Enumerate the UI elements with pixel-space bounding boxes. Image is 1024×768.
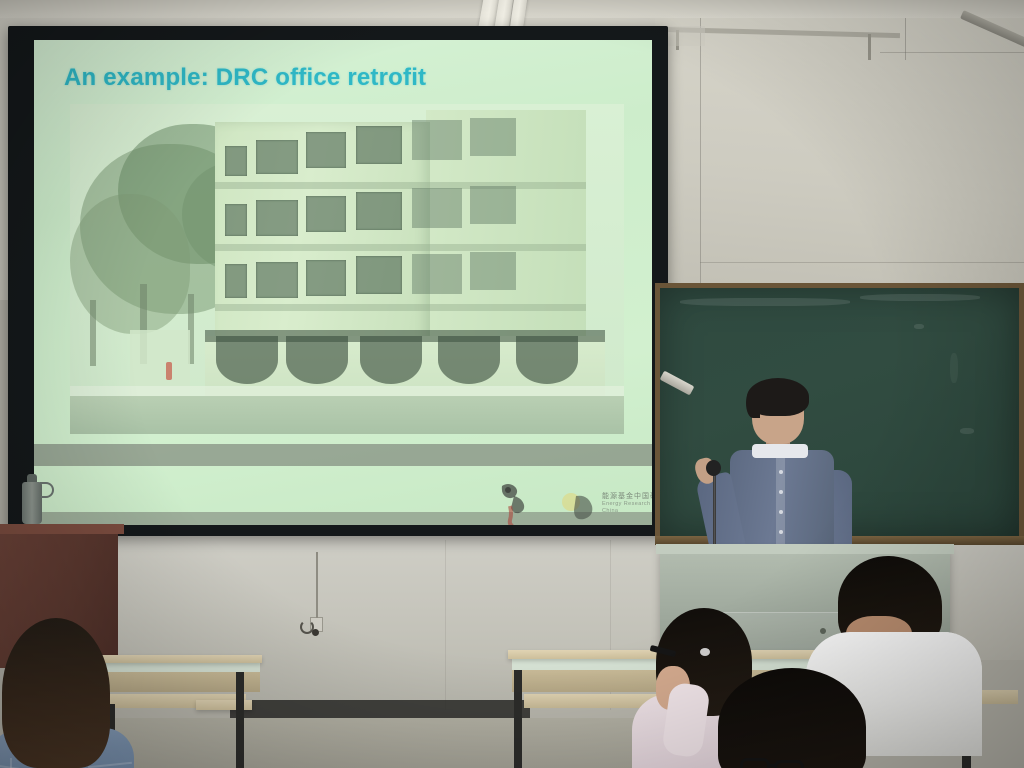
arcade-arch [216,336,278,384]
logo-label-cn: 能源基金中国研究 [602,492,652,501]
wall-seam [700,262,1024,263]
arcade-arch [286,336,348,384]
window [356,126,402,164]
logo-label-en-1: Energy Research [602,501,652,508]
window [356,192,402,230]
window [306,260,346,296]
tree-icon [70,194,190,334]
arcade-arch [516,336,578,384]
floor-line [215,244,586,251]
window [306,132,346,168]
cyclist-figure-logo [494,480,538,525]
slide-divider-band [34,444,652,466]
window [412,120,462,160]
window [470,252,516,290]
podium-top [0,524,124,534]
desk-leg [236,672,244,768]
awning-band [205,330,605,342]
road [70,396,624,434]
eyeglasses-bridge [768,764,776,767]
floor-line [215,304,586,311]
floor-line [215,182,586,189]
window [412,254,462,294]
slide-photo-building [70,104,624,434]
window [356,256,402,294]
shirt-button [779,490,783,494]
window [412,188,462,228]
student-hair [2,618,110,768]
window [256,262,298,298]
window [306,196,346,232]
student-front-glasses [718,668,868,768]
projection-screen-frame: An example: DRC office retrofit [8,26,668,536]
student-hair [718,668,866,768]
presenter-hair-side [746,388,760,418]
eyeglasses-icon [774,760,804,768]
chalk-smudge [950,353,958,383]
window [470,118,516,156]
lecture-hall-photo: MITSUBISHI An example: DRC office retrof… [0,0,1024,768]
chalk-smudge [680,298,850,306]
window [225,146,247,176]
lectern-top [656,544,954,554]
eyeglasses-icon [740,758,770,768]
shirt-button [779,510,783,514]
window [256,140,298,174]
floor [95,718,655,768]
window [225,264,247,298]
wall-seam [445,540,446,710]
student-denim-jacket [2,618,152,768]
window [225,204,247,236]
microphone-icon [706,460,721,476]
tree-trunk [90,300,96,366]
pipe-hanger [868,34,871,60]
presenter-collar [752,444,808,458]
chalk-smudge [860,294,980,301]
shirt-button [779,470,783,474]
window [256,200,298,236]
window [470,186,516,224]
pedestrian [166,362,172,380]
plug [312,629,319,636]
arcade-arch [438,336,500,384]
presenter [700,378,860,568]
logo-text-block: 能源基金中国研究 Energy Research China [602,492,652,515]
logo-label-en-2: China [602,508,652,515]
chalk-smudge [914,324,924,329]
arcade-arch [360,336,422,384]
wall-seam [880,52,1024,53]
desk-leg [514,670,522,768]
chalk-smudge [960,428,974,434]
hair-highlight [700,648,710,656]
slide-bottom-band [34,512,652,525]
projection-screen: An example: DRC office retrofit [34,40,652,525]
right-wall [655,0,1024,300]
energy-research-china-logo [562,490,598,522]
cable [316,552,318,618]
water-bottle [22,482,42,524]
shirt-button [779,530,783,534]
slide-title: An example: DRC office retrofit [64,64,426,92]
